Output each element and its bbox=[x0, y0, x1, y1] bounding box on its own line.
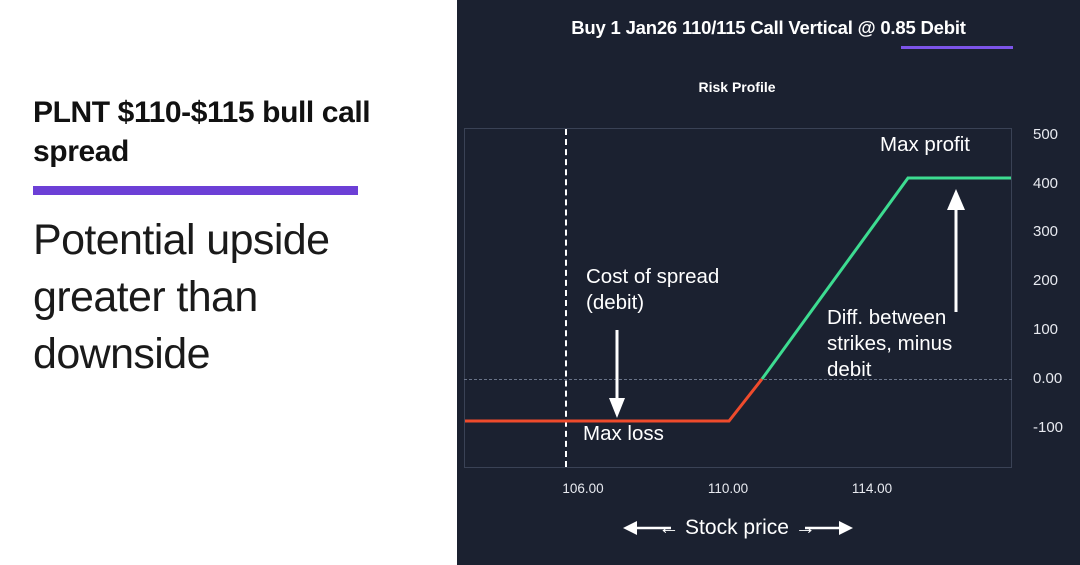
left-text-panel: PLNT $110-$115 bull call spread Potentia… bbox=[0, 0, 457, 565]
title-underline-accent bbox=[901, 46, 1013, 49]
y-tick-400: 400 bbox=[1033, 175, 1058, 192]
y-tick-300: 300 bbox=[1033, 223, 1058, 240]
headline-text: Potential upside greater than downside bbox=[33, 212, 445, 382]
annotation-cost-of-spread: Cost of spread (debit) bbox=[586, 264, 719, 316]
chart-subtitle: Risk Profile bbox=[457, 79, 1017, 95]
purple-divider bbox=[33, 186, 358, 195]
x-tick-110: 110.00 bbox=[708, 481, 748, 496]
y-tick-500: 500 bbox=[1033, 126, 1058, 143]
chart-panel: Buy 1 Jan26 110/115 Call Vertical @ 0.85… bbox=[457, 0, 1080, 565]
y-tick-200: 200 bbox=[1033, 272, 1058, 289]
x-tick-106: 106.00 bbox=[562, 481, 603, 496]
annotation-max-profit: Max profit bbox=[880, 132, 970, 158]
x-axis-title: ← Stock price → bbox=[457, 516, 1017, 540]
current-price-marker-line bbox=[565, 129, 567, 467]
y-tick-0: 0.00 bbox=[1033, 370, 1062, 387]
x-tick-114: 114.00 bbox=[852, 481, 892, 496]
plot-area bbox=[464, 128, 1012, 468]
y-tick-neg100: -100 bbox=[1033, 419, 1063, 436]
chart-title: Buy 1 Jan26 110/115 Call Vertical @ 0.85… bbox=[457, 17, 1080, 39]
annotation-max-loss: Max loss bbox=[583, 421, 664, 447]
y-tick-100: 100 bbox=[1033, 321, 1058, 338]
kicker-text: PLNT $110-$115 bull call spread bbox=[33, 93, 433, 171]
annotation-diff-between-strikes: Diff. between strikes, minus debit bbox=[827, 305, 1007, 384]
infographic-root: PLNT $110-$115 bull call spread Potentia… bbox=[0, 0, 1080, 565]
